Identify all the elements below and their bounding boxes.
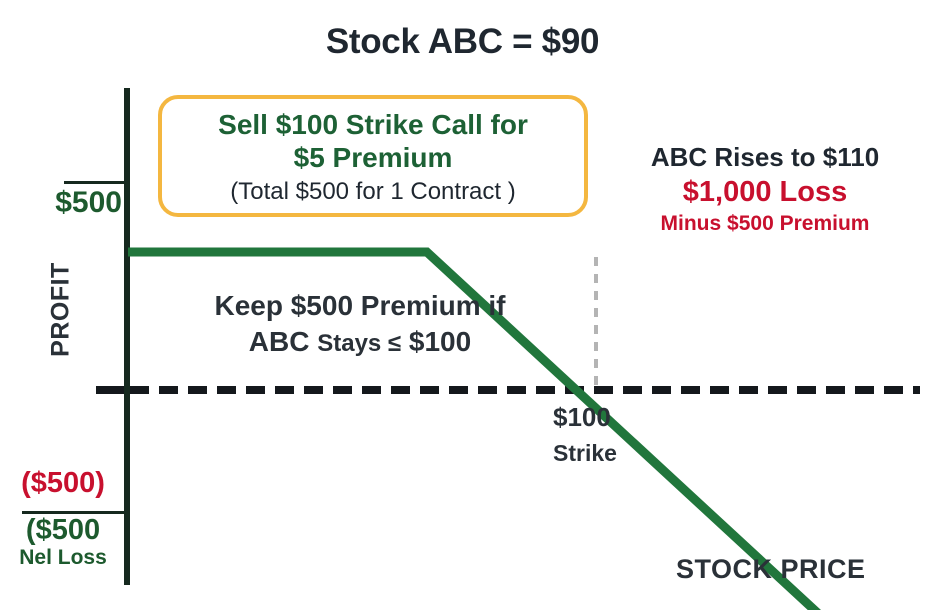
y-tick-label-500: $500 [24, 186, 122, 220]
strike-caption-label: Strike [553, 440, 617, 467]
loss-amount: $1,000 Loss [608, 174, 922, 210]
y-axis [124, 88, 130, 585]
keep-premium-annotation: Keep $500 Premium if ABC Stays ≤ $100 [140, 288, 580, 362]
keep-premium-line-2: ABC Stays ≤ $100 [140, 324, 580, 362]
options-payoff-diagram: Stock ABC = $90 PROFIT $500 ($500) ($500… [0, 0, 925, 610]
y-tick-500 [64, 181, 128, 184]
x-axis-label: STOCK PRICE [676, 554, 866, 585]
loss-subtext: Minus $500 Premium [608, 210, 922, 237]
strike-price-label: $100 [553, 402, 611, 433]
net-loss-caption: Nel Loss [4, 546, 122, 570]
keep-premium-condition: Stays ≤ [317, 330, 401, 357]
sell-call-callout: Sell $100 Strike Call for $5 Premium (To… [158, 95, 588, 217]
keep-premium-strike: $100 [409, 326, 471, 357]
callout-line-3: (Total $500 for 1 Contract ) [162, 176, 584, 208]
keep-premium-line-1: Keep $500 Premium if [140, 288, 580, 324]
loss-headline: ABC Rises to $110 [608, 140, 922, 174]
callout-line-2: $5 Premium [162, 141, 584, 174]
page-title: Stock ABC = $90 [0, 22, 925, 62]
net-loss-value: ($500 [4, 514, 122, 547]
zero-profit-line [130, 386, 920, 394]
callout-line-1: Sell $100 Strike Call for [162, 108, 584, 141]
y-tick-label-minus-500: ($500) [4, 467, 122, 500]
keep-premium-ticker: ABC [249, 326, 310, 357]
y-axis-label: PROFIT [47, 245, 76, 375]
strike-drop-line [594, 257, 598, 390]
loss-annotation: ABC Rises to $110 $1,000 Loss Minus $500… [608, 140, 922, 237]
